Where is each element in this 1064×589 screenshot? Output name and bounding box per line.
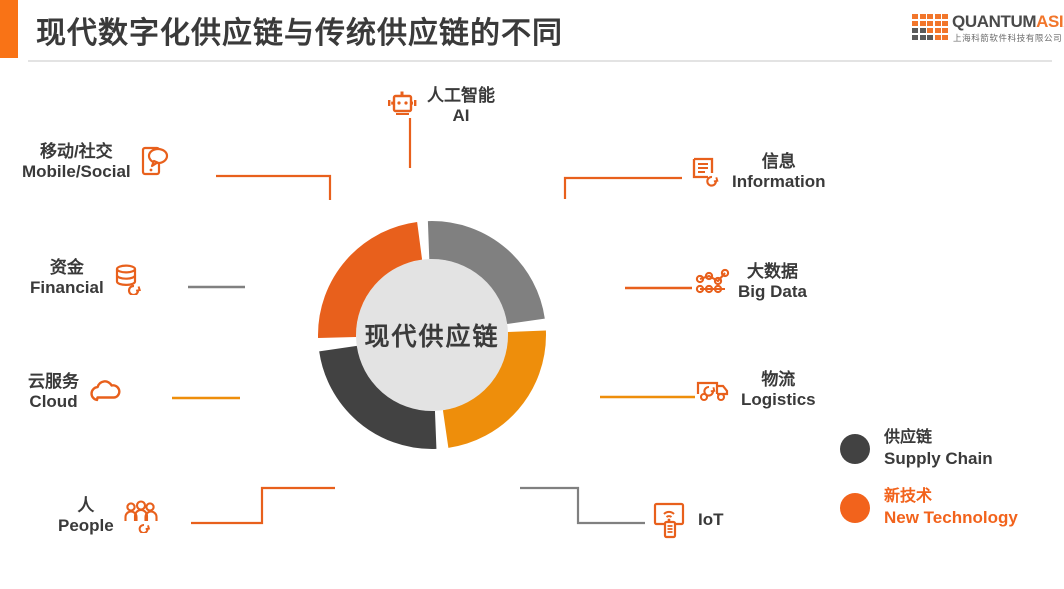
logo-dot-grid: [912, 14, 948, 40]
logo-subtitle: 上海科箭软件科技有限公司: [953, 32, 1062, 44]
node-iot[interactable]: IoT: [652, 500, 724, 540]
node-bigdata[interactable]: 大数据 Big Data: [694, 262, 807, 303]
header-divider: [28, 60, 1052, 62]
connector-information: [565, 178, 682, 199]
node-ai[interactable]: 人工智能 AI: [385, 86, 495, 127]
connector-people: [191, 488, 335, 523]
legend-dot-supply-chain: [840, 434, 870, 464]
node-logistics-en: Logistics: [741, 390, 816, 410]
robot-icon: [385, 89, 419, 123]
quantumasia-logo: QUANTUMASIA 上海科箭软件科技有限公司: [912, 12, 1054, 46]
node-mobile-en: Mobile/Social: [22, 162, 131, 182]
node-cloud-cn: 云服务: [28, 372, 79, 392]
node-financial-text: 资金 Financial: [30, 258, 104, 299]
legend-new-technology-en: New Technology: [884, 507, 1018, 528]
document-icon: [690, 155, 724, 189]
node-iot-en: IoT: [698, 510, 724, 530]
node-ai-cn: 人工智能: [427, 86, 495, 106]
logo-word-quantum: QUANTUM: [952, 12, 1036, 31]
iot-device-icon: [652, 500, 690, 540]
cloud-icon: [87, 378, 125, 406]
legend-supply-chain-en: Supply Chain: [884, 448, 993, 469]
donut-inner-circle: [356, 259, 508, 411]
node-financial-cn: 资金: [30, 258, 104, 278]
node-information[interactable]: 信息 Information: [690, 152, 826, 193]
legend-new-technology-text: 新技术 New Technology: [884, 487, 1018, 528]
node-bigdata-en: Big Data: [738, 282, 807, 302]
network-nodes-icon: [694, 267, 730, 297]
node-ai-en: AI: [427, 106, 495, 126]
people-icon: [122, 499, 160, 533]
node-financial-en: Financial: [30, 278, 104, 298]
node-mobile-social[interactable]: 移动/社交 Mobile/Social: [22, 142, 171, 183]
legend-supply-chain-text: 供应链 Supply Chain: [884, 428, 993, 469]
node-financial[interactable]: 资金 Financial: [30, 258, 146, 299]
node-logistics-text: 物流 Logistics: [741, 370, 816, 411]
node-bigdata-text: 大数据 Big Data: [738, 262, 807, 303]
legend-item-new-technology[interactable]: 新技术 New Technology: [840, 487, 1060, 528]
node-information-en: Information: [732, 172, 826, 192]
node-people-en: People: [58, 516, 114, 536]
page-header: 现代数字化供应链与传统供应链的不同 QUANTUMASIA 上海科箭软件科技有限…: [0, 0, 1064, 62]
node-information-cn: 信息: [732, 152, 826, 172]
node-people[interactable]: 人 People: [58, 496, 160, 537]
node-mobile-cn: 移动/社交: [22, 142, 131, 162]
database-icon: [112, 261, 146, 295]
connector-mobile: [216, 176, 330, 200]
supply-chain-donut: 现代供应链: [317, 220, 547, 450]
truck-icon: [695, 374, 733, 406]
node-logistics-cn: 物流: [741, 370, 816, 390]
logo-word-asia: ASIA: [1036, 12, 1064, 31]
mobile-chat-icon: [139, 144, 171, 180]
node-information-text: 信息 Information: [732, 152, 826, 193]
page-title: 现代数字化供应链与传统供应链的不同: [36, 8, 563, 52]
legend-dot-new-technology: [840, 493, 870, 523]
node-logistics[interactable]: 物流 Logistics: [695, 370, 816, 411]
connector-iot: [520, 488, 645, 523]
node-bigdata-cn: 大数据: [738, 262, 807, 282]
legend-supply-chain-cn: 供应链: [884, 428, 993, 448]
legend-item-supply-chain[interactable]: 供应链 Supply Chain: [840, 428, 1060, 469]
node-cloud[interactable]: 云服务 Cloud: [28, 372, 125, 413]
node-cloud-en: Cloud: [28, 392, 79, 412]
node-mobile-text: 移动/社交 Mobile/Social: [22, 142, 131, 183]
node-iot-text: IoT: [698, 510, 724, 530]
node-ai-text: 人工智能 AI: [427, 86, 495, 127]
node-people-text: 人 People: [58, 496, 114, 537]
legend: 供应链 Supply Chain 新技术 New Technology: [840, 428, 1060, 547]
legend-new-technology-cn: 新技术: [884, 487, 1018, 507]
title-accent-bar: [0, 0, 18, 58]
node-people-cn: 人: [58, 496, 114, 516]
logo-wordmark: QUANTUMASIA: [952, 12, 1064, 32]
node-cloud-text: 云服务 Cloud: [28, 372, 79, 413]
